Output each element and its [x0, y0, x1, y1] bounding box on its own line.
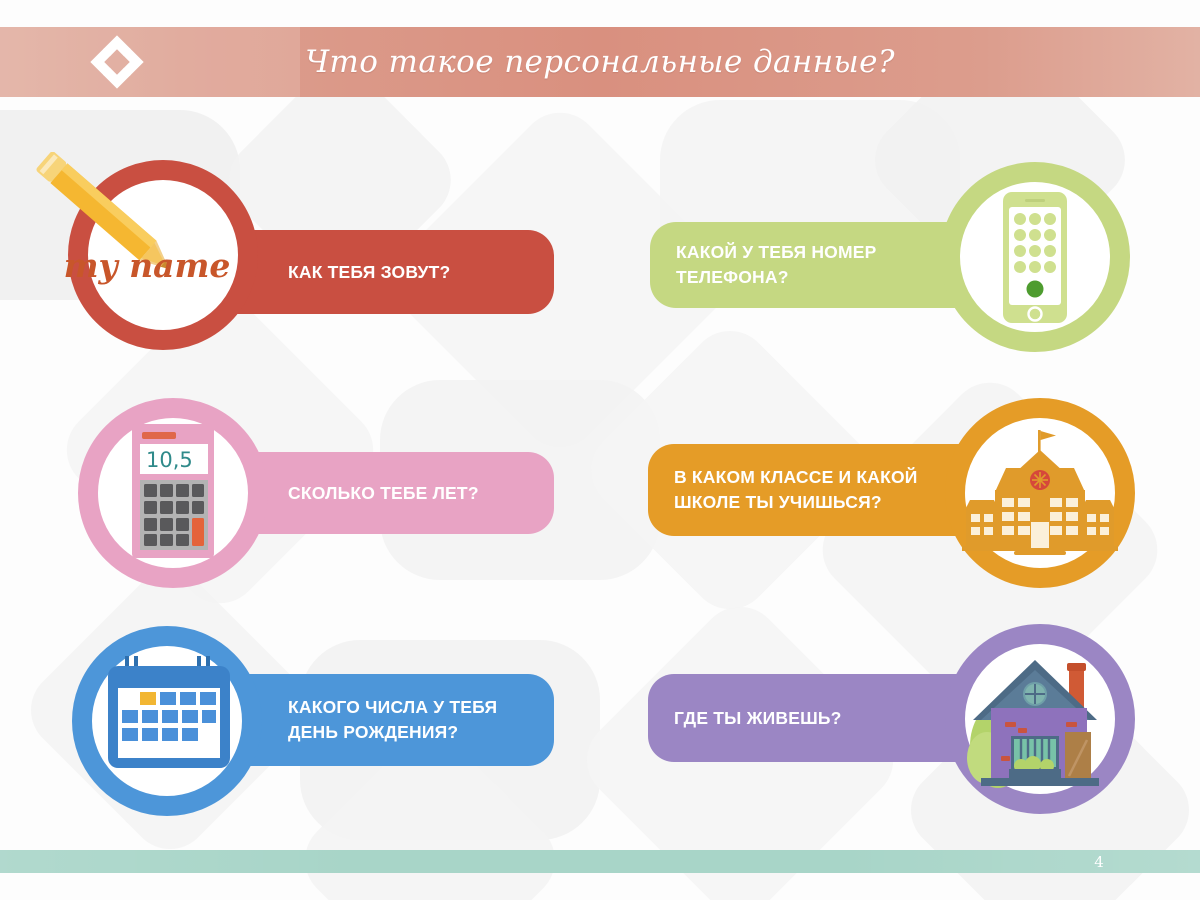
- item-age-label: СКОЛЬКО ТЕБЕ ЛЕТ?: [288, 481, 479, 506]
- item-phone-label: КАКОЙ У ТЕБЯ НОМЕР ТЕЛЕФОНА?: [676, 240, 877, 290]
- svg-text:my name: my name: [64, 246, 231, 285]
- my-name-pencil-icon: my name: [22, 152, 272, 352]
- mobile-phone-icon: [985, 190, 1085, 325]
- page-number: 4: [1082, 850, 1116, 873]
- school-building-icon: [962, 424, 1118, 562]
- item-address-label: ГДЕ ТЫ ЖИВЕШЬ?: [674, 706, 842, 731]
- item-birthday-label: КАКОГО ЧИСЛА У ТЕБЯ ДЕНЬ РОЖДЕНИЯ?: [288, 695, 497, 745]
- slide-canvas: Что такое персональные данные? КАК ТЕБЯ …: [0, 0, 1200, 900]
- page-title: Что такое персональные данные?: [0, 27, 1200, 97]
- calendar-icon: [104, 652, 234, 777]
- calculator-icon: 10,5: [126, 422, 226, 562]
- item-name-label: КАК ТЕБЯ ЗОВУТ?: [288, 260, 450, 285]
- house-icon: [965, 648, 1115, 793]
- item-school-label: В КАКОМ КЛАССЕ И КАКОЙ ШКОЛЕ ТЫ УЧИШЬСЯ?: [674, 465, 918, 515]
- svg-text:10,5: 10,5: [146, 448, 193, 472]
- footer-band: [0, 850, 1200, 873]
